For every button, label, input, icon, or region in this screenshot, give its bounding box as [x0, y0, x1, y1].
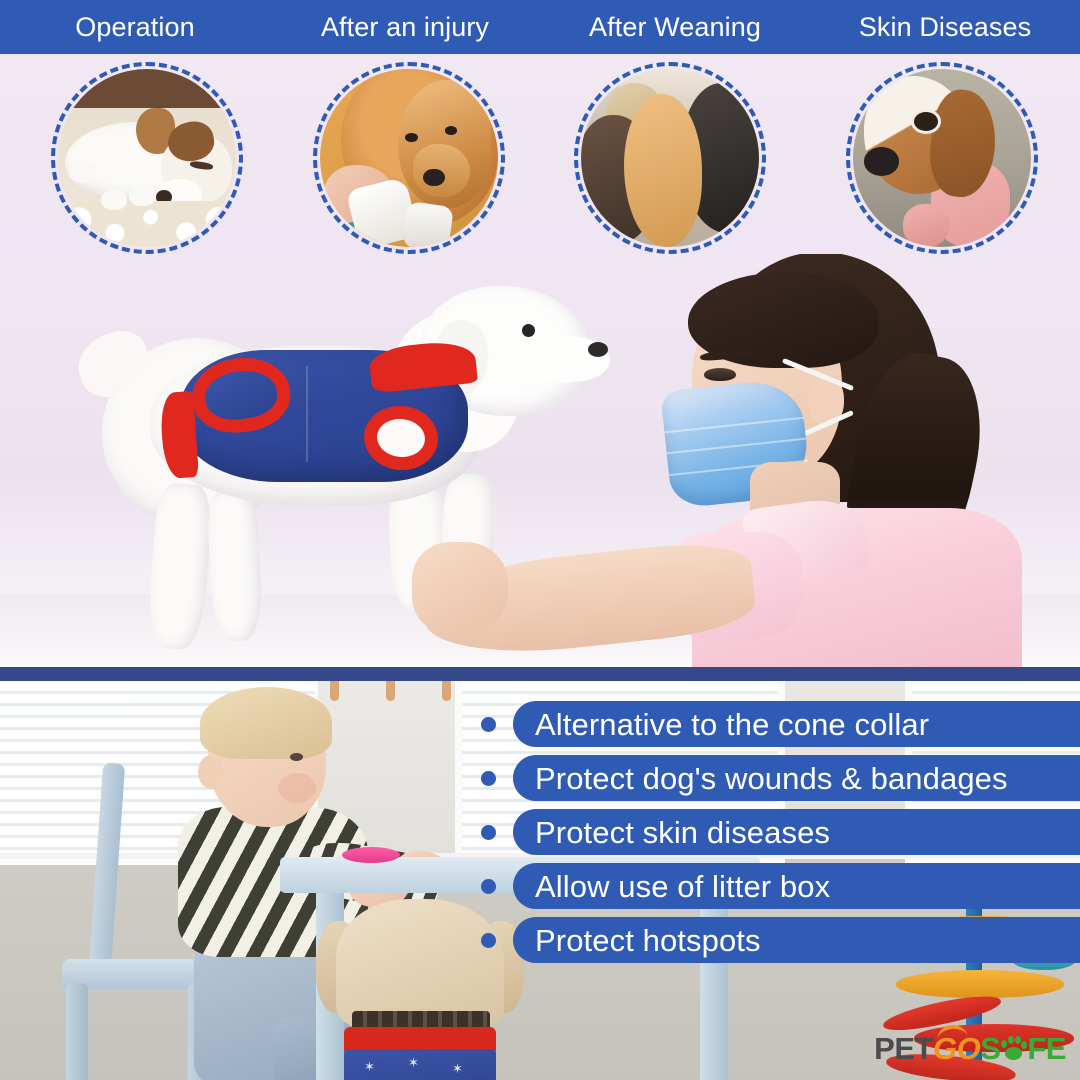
feature-label: Allow use of litter box [535, 871, 830, 902]
feature-label: Protect skin diseases [535, 817, 830, 848]
hero-photo [0, 254, 1080, 667]
category-label-after-injury: After an injury [270, 12, 540, 43]
recovery-suit [156, 340, 486, 512]
logo-text-fe: FE [1027, 1031, 1066, 1067]
section-divider [0, 667, 1080, 681]
thumbnail-row [0, 54, 1080, 254]
brand-logo: PETGOSFE [874, 1032, 1066, 1066]
beagle-skin-condition-photo [846, 62, 1038, 254]
feature-pill: Protect hotspots [513, 917, 1080, 963]
feature-item: Protect hotspots [0, 913, 1080, 967]
paw-print-icon [1000, 1036, 1027, 1063]
bandaged-collie-photo [313, 62, 505, 254]
category-header-bar: Operation After an injury After Weaning … [0, 0, 1080, 54]
category-label-skin-diseases: Skin Diseases [810, 12, 1080, 43]
puppy-litter-photo [574, 62, 766, 254]
category-label-after-weaning: After Weaning [540, 12, 810, 43]
veterinarian [618, 254, 1080, 667]
feature-pill: Allow use of litter box [513, 863, 1080, 909]
bullet-icon [481, 825, 496, 840]
feature-label: Protect hotspots [535, 925, 761, 956]
logo-text-pet: PET [874, 1031, 933, 1067]
feature-label: Protect dog's wounds & bandages [535, 763, 1008, 794]
bullet-icon [481, 717, 496, 732]
top-panel: Operation After an injury After Weaning … [0, 0, 1080, 667]
category-label-operation: Operation [0, 12, 270, 43]
feature-item: Allow use of litter box [0, 859, 1080, 913]
logo-text-go: GO [933, 1031, 980, 1067]
feature-pill: Protect dog's wounds & bandages [513, 755, 1080, 801]
feature-label: Alternative to the cone collar [535, 709, 929, 740]
bullet-icon [481, 771, 496, 786]
sleeping-puppy-photo [51, 62, 243, 254]
feature-item: Protect skin diseases [0, 805, 1080, 859]
product-infographic: Operation After an injury After Weaning … [0, 0, 1080, 1080]
feature-pill: Alternative to the cone collar [513, 701, 1080, 747]
bullet-icon [481, 933, 496, 948]
feature-pill: Protect skin diseases [513, 809, 1080, 855]
feature-item: Alternative to the cone collar [0, 697, 1080, 751]
feature-list: Alternative to the cone collar Protect d… [0, 697, 1080, 987]
logo-text-s: S [980, 1031, 1000, 1067]
feature-item: Protect dog's wounds & bandages [0, 751, 1080, 805]
bullet-icon [481, 879, 496, 894]
